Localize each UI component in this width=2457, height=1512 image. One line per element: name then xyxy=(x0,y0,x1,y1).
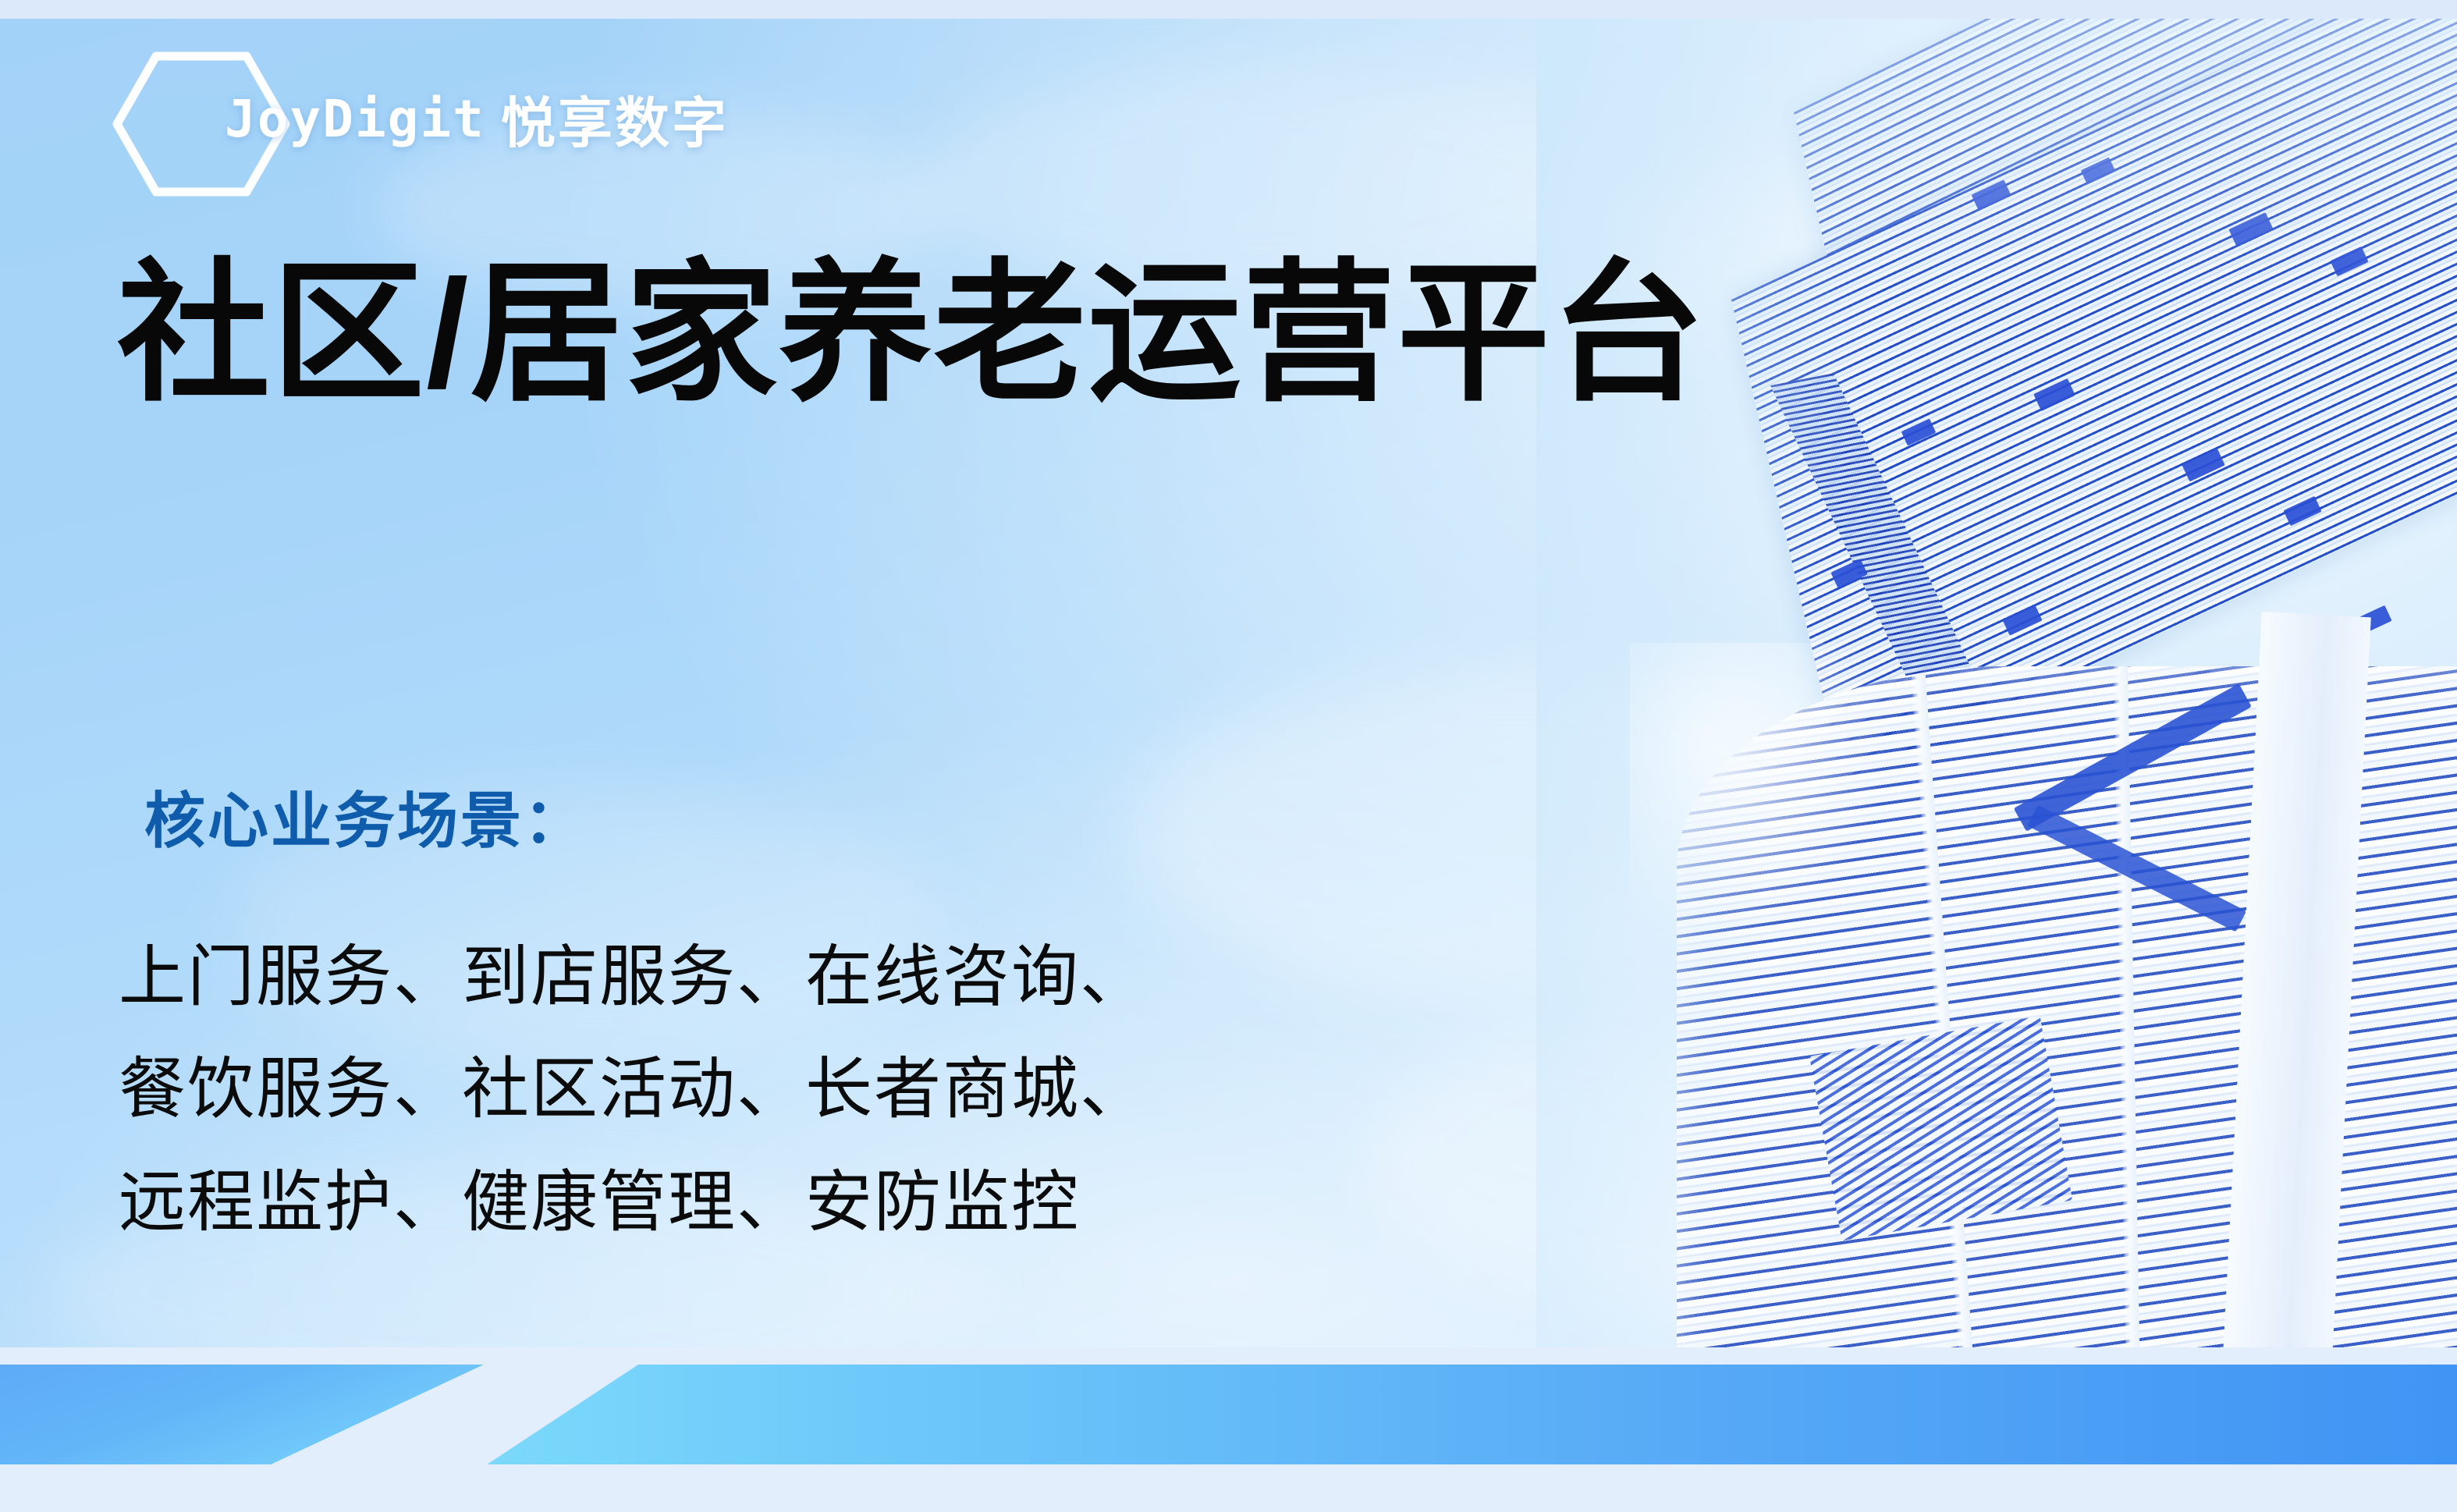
scenario-line: 远程监护、健康管理、安防监控 xyxy=(119,1146,1149,1258)
brand-logo: JoyDigit 悦享数字 xyxy=(133,75,729,162)
scenario-line: 上门服务、到店服务、在线咨询、 xyxy=(119,921,1149,1033)
hexagon-outline-icon xyxy=(133,75,204,162)
page-title: 社区/居家养老运营平台 xyxy=(117,257,1706,410)
ribbon-left-parallelogram xyxy=(0,1365,484,1464)
podium-louvres xyxy=(1809,1016,2072,1240)
logo-chinese-name: 悦享数字 xyxy=(501,80,729,158)
scenario-line: 餐饮服务、社区活动、长者商城、 xyxy=(119,1033,1149,1145)
slide-canvas: JoyDigit 悦享数字 社区/居家养老运营平台 核心业务场景： 上门服务、到… xyxy=(0,0,2457,1512)
facade-highlight xyxy=(1630,643,2036,986)
section-heading: 核心业务场景： xyxy=(144,772,587,860)
ribbon-right-parallelogram xyxy=(414,1365,2457,1464)
scenario-list: 上门服务、到店服务、在线咨询、 餐饮服务、社区活动、长者商城、 远程监护、健康管… xyxy=(119,921,1149,1258)
bottom-ribbon xyxy=(0,1347,2457,1512)
logo-wordmark: JoyDigit xyxy=(225,89,485,149)
skyscraper-photo xyxy=(1536,19,2457,1347)
page-top-edge xyxy=(0,0,2457,19)
